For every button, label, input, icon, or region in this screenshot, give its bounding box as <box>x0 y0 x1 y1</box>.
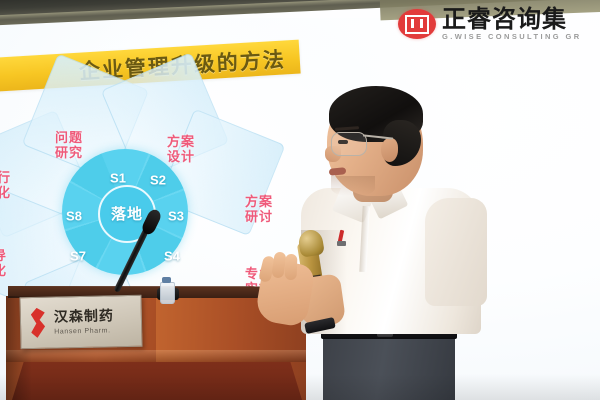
presentation-photo: 正睿咨询集 G.WISE CONSULTING GR 企业管理升级的方法 问题 … <box>0 0 600 400</box>
speaker-ear <box>381 138 398 162</box>
diagram-segment-s4: S4 <box>164 249 180 264</box>
diagram-label-5: 运行 固化 <box>0 172 20 202</box>
podium-bevel <box>6 350 306 362</box>
diagram-segment-s7: S7 <box>70 249 86 264</box>
plaque-text-block: 汉森制药 Hansen Pharm. <box>54 309 115 335</box>
slide-diagram: 问题 研究 方案 设计 方案 研讨 专业 实施 辅导 优化 运行 固化 S1 S… <box>0 100 290 315</box>
diagram-label-1: 方案 设计 <box>158 136 204 166</box>
speaker-chest-logo-icon <box>337 230 346 246</box>
company-name-cn: 正睿咨询集 <box>442 7 582 31</box>
speaker-finger <box>285 254 298 280</box>
diagram-segment-s8: S8 <box>66 209 82 224</box>
speaker-right-sleeve <box>425 198 487 306</box>
water-bottle-cap <box>162 277 171 283</box>
diagram-segment-s1: S1 <box>110 171 126 186</box>
company-seal-icon <box>398 9 436 39</box>
floor-shadow <box>0 374 600 400</box>
company-name-en: G.WISE CONSULTING GR <box>442 33 582 41</box>
company-name-block: 正睿咨询集 G.WISE CONSULTING GR <box>442 7 582 41</box>
hansen-logo-icon <box>28 308 49 338</box>
podium-plaque: 汉森制药 Hansen Pharm. <box>19 295 142 350</box>
slide-header-logo: 正睿咨询集 G.WISE CONSULTING GR <box>398 2 600 46</box>
diagram-segment-s3: S3 <box>168 209 184 224</box>
diagram-segment-s2: S2 <box>150 173 166 188</box>
eyeglasses-icon <box>331 132 367 156</box>
diagram-label-4: 辅导 优化 <box>0 250 16 280</box>
speaker-person <box>275 80 510 400</box>
plaque-name-en: Hansen Pharm. <box>54 327 114 335</box>
diagram-label-0: 问题 研究 <box>46 132 92 162</box>
plaque-name-cn: 汉森制药 <box>54 309 114 324</box>
water-bottle <box>160 282 175 304</box>
speaker-chin-shadow <box>331 176 375 196</box>
